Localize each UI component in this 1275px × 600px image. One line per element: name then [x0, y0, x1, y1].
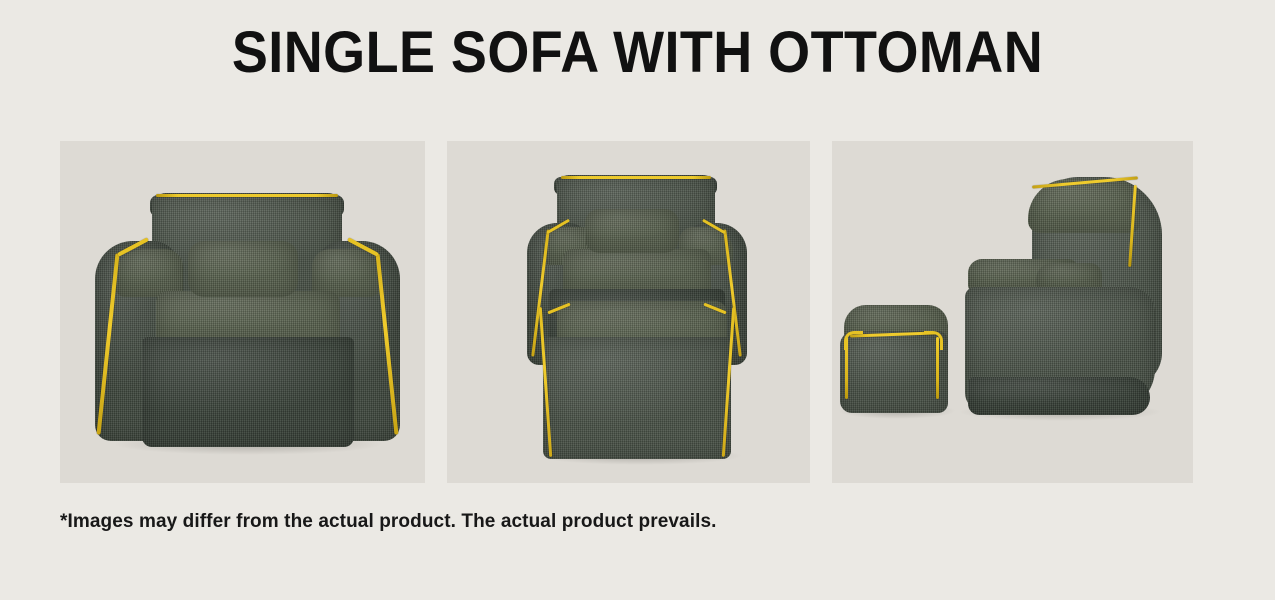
sofa-with-ottoman-illustration	[447, 141, 810, 483]
sofa-side-illustration	[832, 141, 1193, 483]
ottoman-piping-corner-left	[844, 331, 863, 350]
sofa-front-illustration	[60, 141, 425, 483]
ottoman-body	[543, 337, 731, 459]
backrest-piping	[561, 176, 711, 179]
sofa-base	[142, 337, 354, 447]
disclaimer-text: *Images may differ from the actual produ…	[60, 511, 717, 533]
sofa-base-side	[968, 377, 1150, 415]
product-image-chair-with-ottoman[interactable]	[447, 141, 810, 483]
armrest-top-right	[312, 249, 380, 297]
backrest-piping	[156, 194, 338, 197]
page-title: SINGLE SOFA WITH OTTOMAN	[45, 22, 1231, 84]
armrest-top-left	[115, 249, 183, 297]
lumbar-pillow	[188, 241, 298, 297]
lumbar-pillow	[585, 209, 679, 253]
product-image-gallery	[60, 141, 1193, 483]
product-image-front-chair[interactable]	[60, 141, 425, 483]
ottoman-piping-corner-right	[924, 331, 943, 350]
product-image-side-view[interactable]	[832, 141, 1193, 483]
